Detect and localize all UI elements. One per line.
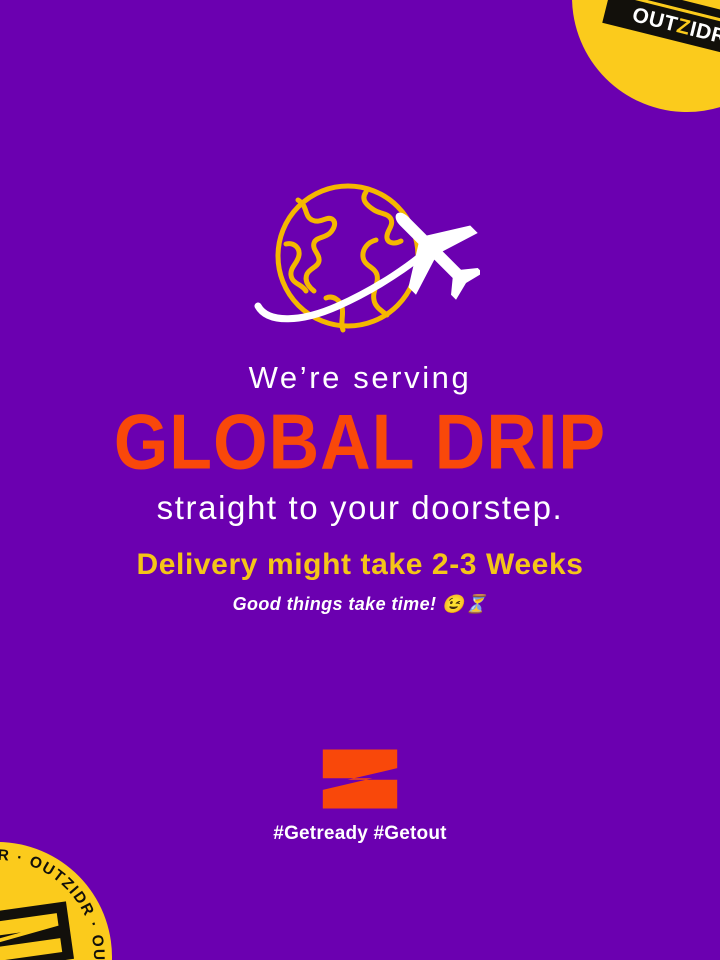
headline-line-3: straight to your doorstep. [0,491,720,526]
delivery-block: Delivery might take 2-3 Weeks Good thing… [0,548,720,616]
footer-block: #Getready #Getout [0,748,720,845]
badge-core-bottom-left: OUT Z IDR [0,901,79,960]
badge-top-right: OUTZIDR · OUTZIDR · OUTZIDR · OUTZIDR · … [548,0,720,136]
badge-wordmark-before: OUT [630,4,680,35]
badge-bottom-left: OUTZIDR · OUTZIDR · OUTZIDR · OUTZIDR · … [0,827,127,960]
delivery-subtext: Good things take time! 😉⏳ [0,594,720,616]
globe-illustration [0,178,720,338]
badge-wordmark-after: IDR [688,19,720,48]
headline-block: We’re serving GLOBAL DRIP straight to yo… [0,362,720,526]
delivery-headline: Delivery might take 2-3 Weeks [0,548,720,581]
headline-line-2: GLOBAL DRIP [0,401,720,482]
globe-icon [278,186,418,330]
headline-line-1: We’re serving [0,362,720,395]
promo-poster: OUTZIDR · OUTZIDR · OUTZIDR · OUTZIDR · … [0,0,720,960]
badge-core-top-right: OUT Z IDR [602,0,720,60]
badge-z-bar [0,901,74,960]
hashtags-label: #Getready #Getout [0,823,720,845]
outzidr-z-logo [321,748,399,810]
airplane-icon [366,183,480,317]
badge-z-icon [0,911,65,960]
